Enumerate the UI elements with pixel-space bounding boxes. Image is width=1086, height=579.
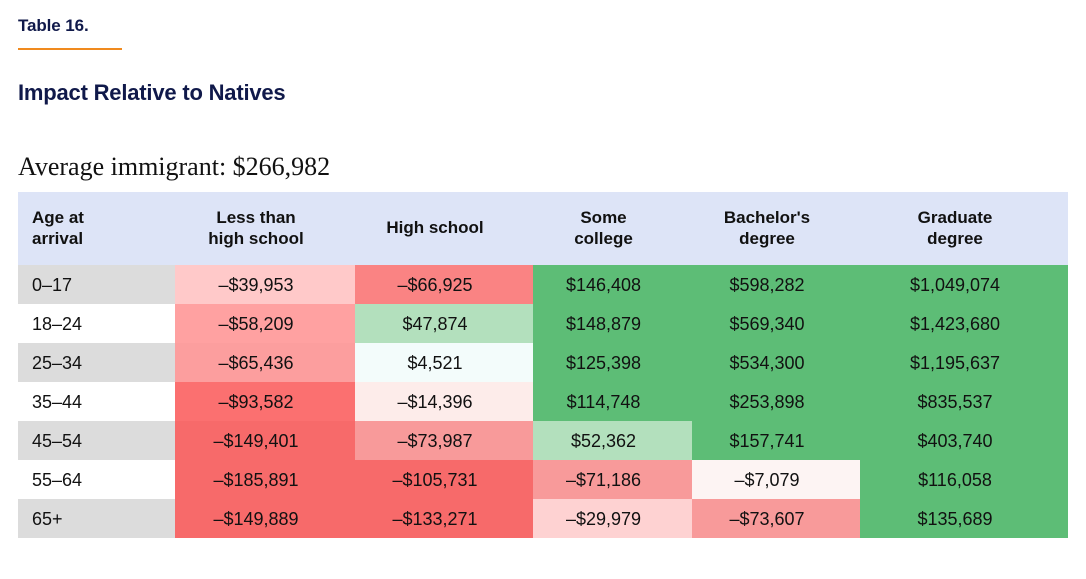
cell-value: –$93,582 [175, 382, 355, 421]
cell-value: $1,423,680 [860, 304, 1068, 343]
impact-data-table: Age at arrival Less than high school Hig… [18, 192, 1068, 538]
cell-value: $1,049,074 [860, 265, 1068, 304]
column-header-age-line1: Age at [32, 208, 84, 227]
table-row: 35–44–$93,582–$14,396$114,748$253,898$83… [18, 382, 1068, 421]
column-header-ba-line1: Bachelor's [724, 208, 810, 227]
column-header-high-school: High school [355, 192, 533, 265]
cell-value: –$185,891 [175, 460, 355, 499]
table-row: 18–24–$58,209$47,874$148,879$569,340$1,4… [18, 304, 1068, 343]
table-title: Impact Relative to Natives [18, 80, 285, 106]
cell-value: $47,874 [355, 304, 533, 343]
column-header-gr-line1: Graduate [918, 208, 993, 227]
cell-value: $403,740 [860, 421, 1068, 460]
cell-age-at-arrival: 0–17 [18, 265, 175, 304]
cell-value: –$133,271 [355, 499, 533, 538]
table-header-row: Age at arrival Less than high school Hig… [18, 192, 1068, 265]
cell-age-at-arrival: 18–24 [18, 304, 175, 343]
table-body: 0–17–$39,953–$66,925$146,408$598,282$1,0… [18, 265, 1068, 538]
column-header-age: Age at arrival [18, 192, 175, 265]
cell-value: –$149,401 [175, 421, 355, 460]
cell-value: –$65,436 [175, 343, 355, 382]
cell-age-at-arrival: 45–54 [18, 421, 175, 460]
column-header-graduate-degree: Graduate degree [860, 192, 1068, 265]
column-header-less-than-high-school: Less than high school [175, 192, 355, 265]
table-figure: Table 16. Impact Relative to Natives Ave… [0, 0, 1086, 579]
table-row: 25–34–$65,436$4,521$125,398$534,300$1,19… [18, 343, 1068, 382]
cell-value: $1,195,637 [860, 343, 1068, 382]
cell-value: $253,898 [692, 382, 860, 421]
cell-value: $4,521 [355, 343, 533, 382]
column-header-some-college: Some college [533, 192, 692, 265]
cell-value: –$73,987 [355, 421, 533, 460]
cell-value: $146,408 [533, 265, 692, 304]
cell-age-at-arrival: 35–44 [18, 382, 175, 421]
table-subtitle: Average immigrant: $266,982 [18, 152, 330, 182]
table-row: 0–17–$39,953–$66,925$146,408$598,282$1,0… [18, 265, 1068, 304]
cell-value: $125,398 [533, 343, 692, 382]
column-header-gr-line2: degree [860, 229, 1050, 250]
cell-age-at-arrival: 25–34 [18, 343, 175, 382]
cell-value: –$149,889 [175, 499, 355, 538]
cell-value: $835,537 [860, 382, 1068, 421]
cell-value: –$14,396 [355, 382, 533, 421]
column-header-sc-line2: college [533, 229, 674, 250]
cell-value: –$105,731 [355, 460, 533, 499]
cell-value: –$7,079 [692, 460, 860, 499]
cell-value: –$66,925 [355, 265, 533, 304]
table-row: 45–54–$149,401–$73,987$52,362$157,741$40… [18, 421, 1068, 460]
cell-value: $534,300 [692, 343, 860, 382]
cell-value: $52,362 [533, 421, 692, 460]
cell-value: $598,282 [692, 265, 860, 304]
table-number-label: Table 16. [18, 16, 89, 36]
cell-value: $135,689 [860, 499, 1068, 538]
cell-age-at-arrival: 65+ [18, 499, 175, 538]
cell-value: $569,340 [692, 304, 860, 343]
cell-value: $116,058 [860, 460, 1068, 499]
cell-value: –$39,953 [175, 265, 355, 304]
cell-value: –$29,979 [533, 499, 692, 538]
label-underline-rule [18, 48, 122, 50]
cell-value: $148,879 [533, 304, 692, 343]
cell-value: $157,741 [692, 421, 860, 460]
column-header-lths-line1: Less than [216, 208, 295, 227]
column-header-hs-line1: High school [386, 218, 483, 237]
cell-value: –$73,607 [692, 499, 860, 538]
cell-value: –$71,186 [533, 460, 692, 499]
cell-age-at-arrival: 55–64 [18, 460, 175, 499]
column-header-lths-line2: high school [175, 229, 337, 250]
column-header-sc-line1: Some [580, 208, 626, 227]
table-row: 65+–$149,889–$133,271–$29,979–$73,607$13… [18, 499, 1068, 538]
column-header-age-line2: arrival [32, 229, 175, 250]
table-row: 55–64–$185,891–$105,731–$71,186–$7,079$1… [18, 460, 1068, 499]
column-header-ba-line2: degree [692, 229, 842, 250]
cell-value: –$58,209 [175, 304, 355, 343]
cell-value: $114,748 [533, 382, 692, 421]
column-header-bachelors-degree: Bachelor's degree [692, 192, 860, 265]
